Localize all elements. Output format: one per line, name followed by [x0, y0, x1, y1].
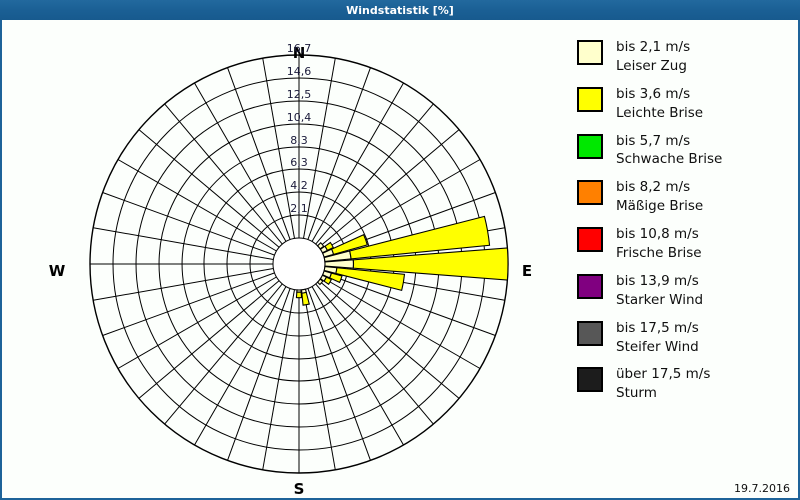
windrose-petal-segment	[302, 292, 309, 305]
legend-name: Steifer Wind	[616, 338, 699, 357]
legend-name: Mäßige Brise	[616, 197, 703, 216]
radial-tick-label: 8,3	[279, 134, 319, 147]
grid-spoke	[118, 277, 276, 369]
window-title: Windstatistik [%]	[346, 4, 454, 17]
legend-swatch	[577, 227, 603, 252]
grid-spoke	[195, 83, 287, 241]
radial-tick-label: 12,5	[279, 88, 319, 101]
legend-name: Frische Brise	[616, 244, 702, 263]
radial-tick-label: 4,2	[279, 179, 319, 192]
windrose-chart: N S W E 2,14,26,38,310,412,514,616,7	[2, 20, 562, 498]
legend-name: Leichte Brise	[616, 104, 703, 123]
legend-label: bis 13,9 m/sStarker Wind	[616, 272, 703, 310]
legend-speed: bis 5,7 m/s	[616, 133, 690, 149]
legend-swatch	[577, 134, 603, 159]
legend-item: über 17,5 m/sSturm	[577, 365, 792, 403]
legend-speed: bis 2,1 m/s	[616, 39, 690, 55]
legend-item: bis 8,2 m/sMäßige Brise	[577, 178, 792, 216]
grid-spoke	[93, 269, 273, 301]
grid-spoke	[312, 83, 404, 241]
legend-item: bis 17,5 m/sSteifer Wind	[577, 319, 792, 357]
legend-item: bis 2,1 m/sLeiser Zug	[577, 38, 792, 76]
legend-item: bis 13,9 m/sStarker Wind	[577, 272, 792, 310]
legend-speed: bis 3,6 m/s	[616, 86, 690, 102]
legend-speed: bis 8,2 m/s	[616, 179, 690, 195]
compass-label-south: S	[279, 480, 319, 498]
radial-tick-label: 6,3	[279, 156, 319, 169]
grid-spoke	[103, 273, 275, 336]
legend-name: Schwache Brise	[616, 150, 722, 169]
grid-spoke	[308, 288, 371, 460]
grid-spoke	[316, 284, 434, 424]
grid-spoke	[316, 104, 434, 244]
grid-spoke	[323, 273, 495, 336]
legend-item: bis 3,6 m/sLeichte Brise	[577, 85, 792, 123]
legend-swatch	[577, 180, 603, 205]
grid-spoke	[139, 130, 279, 248]
legend-label: über 17,5 m/sSturm	[616, 365, 710, 403]
grid-spoke	[319, 281, 459, 399]
compass-label-west: W	[37, 262, 77, 280]
radial-tick-label: 14,6	[279, 65, 319, 78]
legend-swatch	[577, 274, 603, 299]
content-pane: N S W E 2,14,26,38,310,412,514,616,7 bis…	[2, 20, 798, 498]
legend-swatch	[577, 321, 603, 346]
grid-spoke	[139, 281, 279, 399]
windrose-petal-segment	[296, 292, 301, 298]
radial-tick-label: 16,7	[279, 42, 319, 55]
grid-spoke	[304, 290, 336, 470]
legend-speed: bis 10,8 m/s	[616, 226, 699, 242]
legend-speed: bis 13,9 m/s	[616, 273, 699, 289]
legend-item: bis 5,7 m/sSchwache Brise	[577, 132, 792, 170]
grid-spoke	[263, 290, 295, 470]
grid-spoke	[195, 287, 287, 445]
legend-swatch	[577, 40, 603, 65]
grid-spoke	[103, 193, 275, 256]
legend-label: bis 17,5 m/sSteifer Wind	[616, 319, 699, 357]
legend-label: bis 5,7 m/sSchwache Brise	[616, 132, 722, 170]
grid-spoke	[118, 160, 276, 252]
legend-name: Starker Wind	[616, 291, 703, 310]
legend-item: bis 10,8 m/sFrische Brise	[577, 225, 792, 263]
legend: bis 2,1 m/sLeiser Zugbis 3,6 m/sLeichte …	[577, 38, 792, 412]
legend-label: bis 10,8 m/sFrische Brise	[616, 225, 702, 263]
radial-tick-label: 2,1	[279, 202, 319, 215]
legend-swatch	[577, 367, 603, 392]
window-root: Windstatistik [%] N S W E 2,14,26,38,310…	[0, 0, 800, 500]
legend-speed: über 17,5 m/s	[616, 366, 710, 382]
grid-spoke	[312, 287, 404, 445]
legend-label: bis 8,2 m/sMäßige Brise	[616, 178, 703, 216]
radial-tick-label: 10,4	[279, 111, 319, 124]
grid-spoke	[165, 104, 283, 244]
legend-label: bis 2,1 m/sLeiser Zug	[616, 38, 690, 76]
grid-spoke	[93, 228, 273, 260]
legend-swatch	[577, 87, 603, 112]
legend-name: Sturm	[616, 384, 710, 403]
legend-speed: bis 17,5 m/s	[616, 320, 699, 336]
window-titlebar: Windstatistik [%]	[0, 0, 800, 20]
compass-label-east: E	[507, 262, 547, 280]
footer-date: 19.7.2016	[734, 482, 790, 495]
legend-name: Leiser Zug	[616, 57, 690, 76]
grid-spoke	[228, 288, 291, 460]
grid-spoke	[165, 284, 283, 424]
grid-spoke	[322, 277, 480, 369]
legend-label: bis 3,6 m/sLeichte Brise	[616, 85, 703, 123]
